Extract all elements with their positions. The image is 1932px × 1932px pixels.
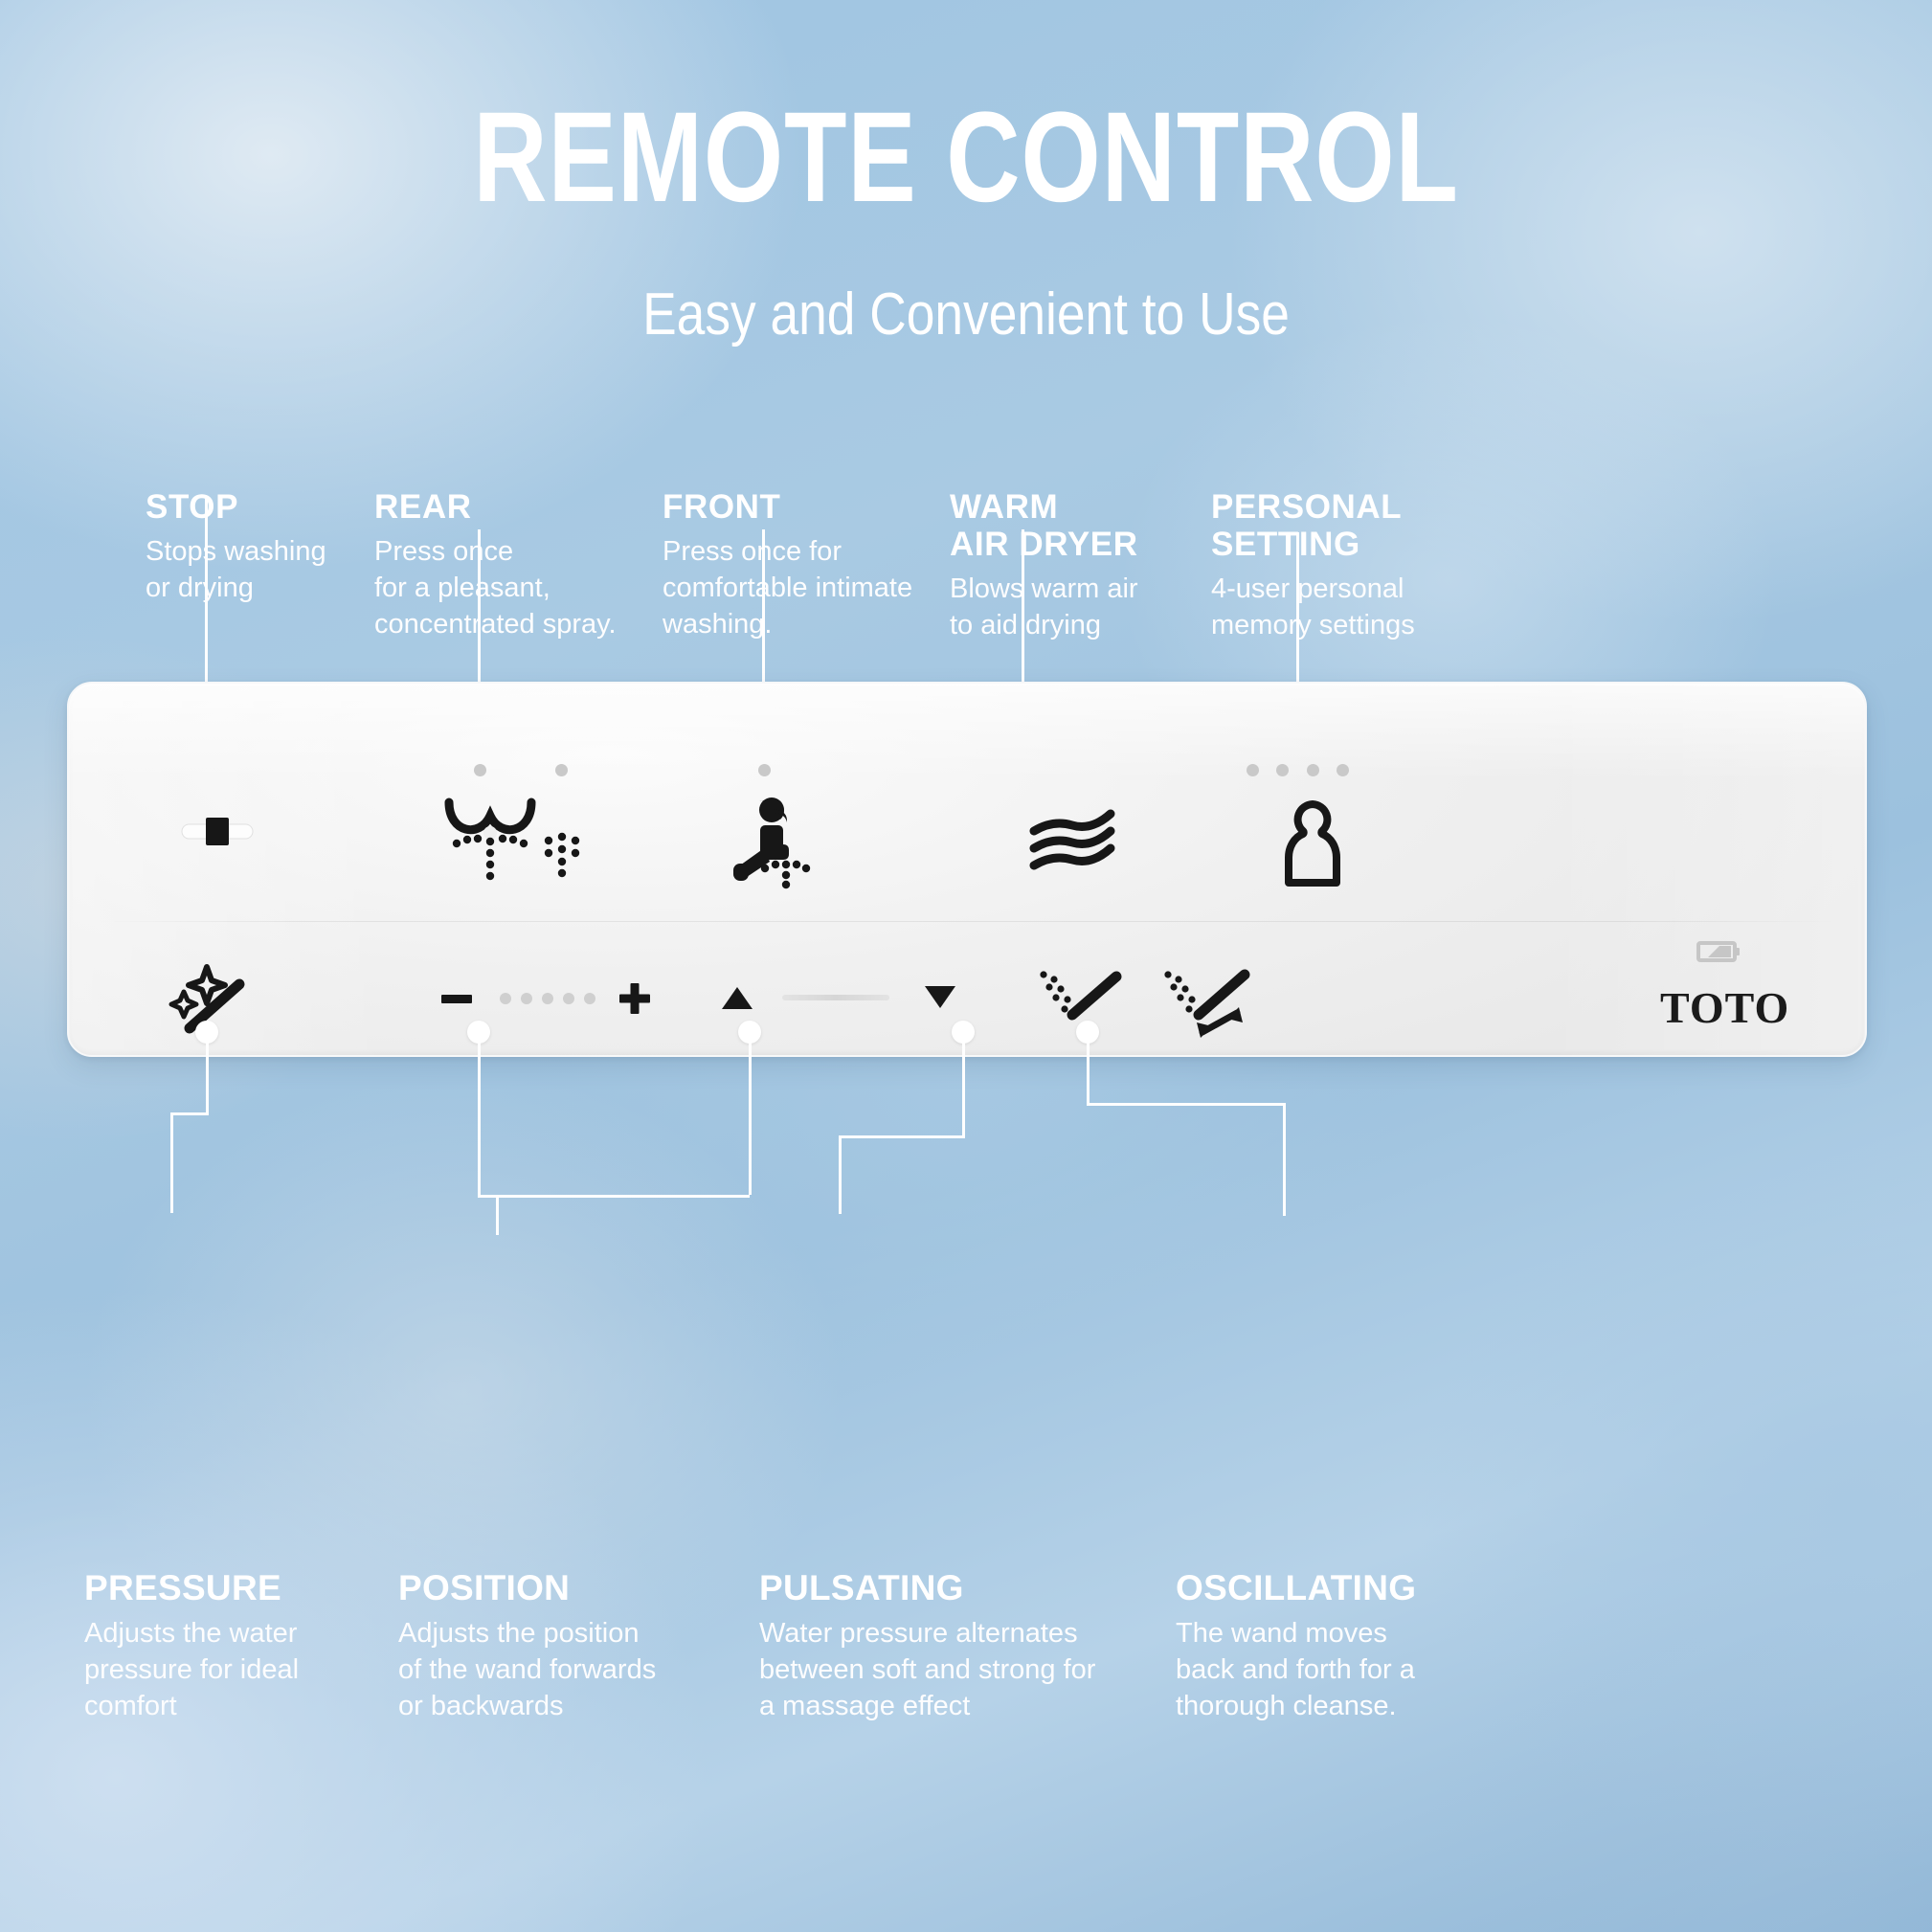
infographic-root: REMOTE CONTROL Easy and Convenient to Us…: [0, 0, 1932, 1932]
front-wash-button[interactable]: [720, 789, 835, 889]
callout-pulsating-body: Water pressure alternates between soft a…: [759, 1616, 1123, 1724]
position-up-button[interactable]: [718, 980, 756, 1015]
oscillating-button[interactable]: [1160, 967, 1266, 1045]
pressure-level-dot-4: [563, 993, 574, 1004]
callout-rear-body: Press once for a pleasant, concentrated …: [374, 534, 633, 642]
page-title: REMOTE CONTROL: [193, 94, 1739, 222]
position-down-button[interactable]: [921, 980, 959, 1015]
remote-row-divider: [96, 921, 1838, 922]
leader-line-oscillating-a: [1087, 1032, 1090, 1105]
callout-personal-setting-heading: PERSONAL SETTING: [1211, 488, 1479, 563]
remote-control-panel: TOTO: [67, 682, 1867, 1057]
callout-warm-air-dryer: WARM AIR DRYER Blows warm air to aid dry…: [950, 488, 1199, 644]
callout-oscillating: OSCILLATING The wand moves back and fort…: [1176, 1568, 1501, 1725]
stop-button[interactable]: [174, 806, 260, 856]
callout-personal-setting: PERSONAL SETTING 4-user personal memory …: [1211, 488, 1479, 644]
leader-line-position-a: [478, 1032, 481, 1197]
led-personal-4: [1337, 764, 1349, 776]
led-front: [758, 764, 771, 776]
callout-personal-setting-body: 4-user personal memory settings: [1211, 572, 1479, 643]
callout-stop-body: Stops washing or drying: [146, 534, 375, 606]
callout-oscillating-body: The wand moves back and forth for a thor…: [1176, 1616, 1501, 1724]
page-subtitle: Easy and Convenient to Use: [135, 282, 1796, 348]
callout-pressure-heading: PRESSURE: [84, 1568, 371, 1607]
rear-wash-button[interactable]: [438, 791, 543, 887]
callout-warm-air-dryer-heading: WARM AIR DRYER: [950, 488, 1199, 563]
position-slider-track[interactable]: [782, 995, 889, 1000]
led-personal-2: [1276, 764, 1289, 776]
callout-stop-heading: STOP: [146, 488, 375, 526]
pressure-level-dot-5: [584, 993, 595, 1004]
leader-line-pulsating-c: [839, 1135, 842, 1214]
callout-position-heading: POSITION: [398, 1568, 714, 1607]
callout-pulsating: PULSATING Water pressure alternates betw…: [759, 1568, 1123, 1725]
leader-line-pressure-b: [170, 1112, 209, 1115]
leader-line-oscillating-b: [1087, 1103, 1286, 1106]
pressure-level-dot-1: [500, 993, 511, 1004]
pressure-level-dot-3: [542, 993, 553, 1004]
callout-warm-air-dryer-body: Blows warm air to aid drying: [950, 572, 1199, 643]
warm-air-dryer-button[interactable]: [1026, 806, 1122, 875]
callout-pressure-body: Adjusts the water pressure for ideal com…: [84, 1616, 371, 1724]
callout-front: FRONT Press once for comfortable intimat…: [663, 488, 940, 642]
callout-position-body: Adjusts the position of the wand forward…: [398, 1616, 714, 1724]
callout-stop: STOP Stops washing or drying: [146, 488, 375, 607]
callout-position: POSITION Adjusts the position of the wan…: [398, 1568, 714, 1725]
leader-line-pressure-c: [170, 1112, 173, 1213]
callout-front-body: Press once for comfortable intimate wash…: [663, 534, 940, 642]
leader-line-position-e: [749, 1032, 752, 1195]
leader-line-position-c: [496, 1195, 499, 1235]
toto-logo: TOTO: [1660, 982, 1789, 1033]
callout-front-heading: FRONT: [663, 488, 940, 526]
led-personal-3: [1307, 764, 1319, 776]
personal-setting-button[interactable]: [1275, 797, 1350, 888]
led-rear-secondary: [555, 764, 568, 776]
callout-rear-heading: REAR: [374, 488, 633, 526]
pressure-decrease-button[interactable]: [438, 982, 476, 1015]
callout-pulsating-heading: PULSATING: [759, 1568, 1123, 1607]
leader-line-pulsating-b: [839, 1135, 965, 1138]
remote-gloss-overlay: [69, 684, 1865, 1055]
pressure-level-dot-2: [521, 993, 532, 1004]
pressure-increase-button[interactable]: [615, 978, 655, 1019]
leader-line-position-d: [478, 1195, 497, 1198]
callout-oscillating-heading: OSCILLATING: [1176, 1568, 1501, 1607]
leader-line-position-f: [497, 1195, 750, 1198]
rear-soft-spray-button[interactable]: [536, 827, 588, 887]
leader-line-pulsating-a: [962, 1032, 965, 1137]
callout-pressure: PRESSURE Adjusts the water pressure for …: [84, 1568, 371, 1725]
leader-line-pressure-a: [206, 1032, 209, 1114]
led-personal-1: [1247, 764, 1259, 776]
leader-line-oscillating-c: [1283, 1103, 1286, 1216]
callout-rear: REAR Press once for a pleasant, concentr…: [374, 488, 633, 642]
battery-indicator-icon: [1696, 938, 1742, 965]
led-rear: [474, 764, 486, 776]
